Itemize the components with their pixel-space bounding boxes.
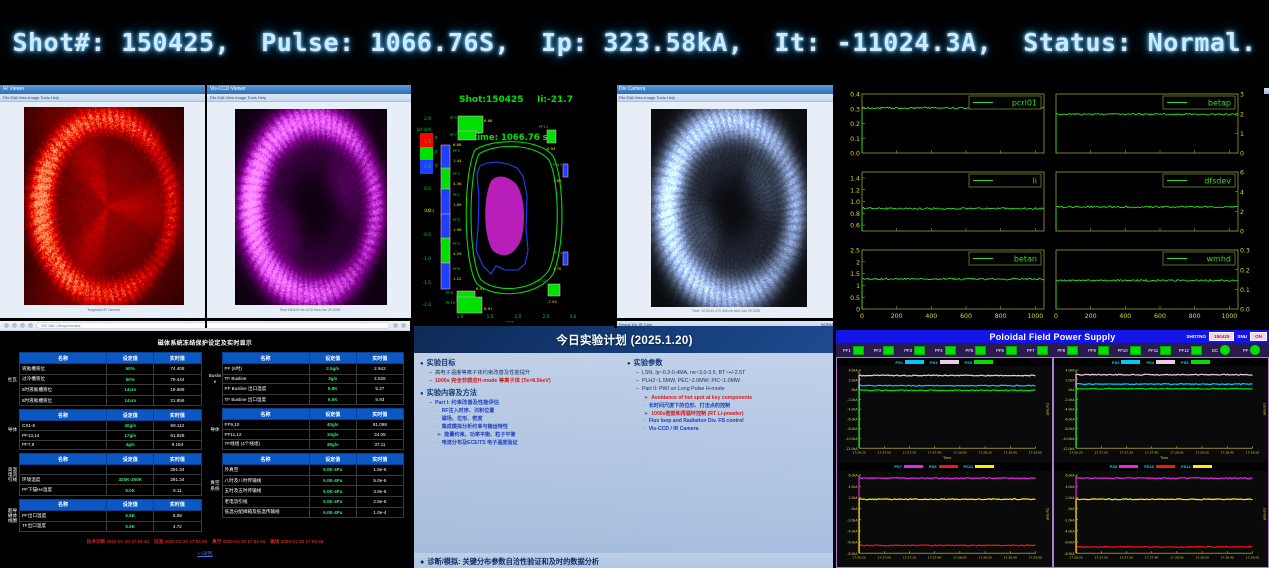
- window-menu-bar[interactable]: File Edit View Image Tools Help: [616, 94, 836, 102]
- slide-sub-text: 能量约束、功率平衡、粒子平衡: [444, 432, 515, 438]
- table-header: 设定值: [309, 353, 356, 364]
- efit-coil-id: PF8: [446, 290, 453, 295]
- pf-power-supply-panel: Poloidal Field Power Supply SHOTNO150425…: [836, 330, 1269, 568]
- pf-indicator-pf9[interactable]: PF9: [1083, 346, 1114, 355]
- slide-sub-text: 集成模拟分析约束与输运特性: [442, 424, 508, 430]
- pfps-status-value: 150425: [1209, 332, 1234, 341]
- arrow-icon: ➢: [437, 432, 441, 438]
- efit-y-tick: -0.5: [423, 232, 432, 238]
- timestamp-label: 真空: [212, 539, 222, 544]
- pf-x-tick: 17:28:00: [1170, 555, 1184, 559]
- table-row: TF出口温度5.5K4.72: [20, 521, 202, 532]
- table-cell-nm: TF线组 (4个线组): [222, 439, 309, 450]
- slide-sub-text: RF注入时序、沉积位置: [442, 408, 495, 414]
- reload-icon[interactable]: [20, 323, 25, 328]
- efit-equilibrium-panel: Shot:150425 Ii:-21.7 time: 1066.76 s Ipf…: [413, 88, 616, 326]
- pf-y-tick: -8.0kA: [1064, 428, 1075, 432]
- slide-bullet-item: –高电子温度等离子体约束改善及性能提升: [429, 370, 622, 377]
- table-header: 实时值: [356, 409, 403, 420]
- slide-sub-text: 长时间尺度下的位形、打击点的控制: [649, 403, 731, 409]
- pf-x-tick: 17:26:20: [852, 451, 866, 455]
- signal-y-tick: 2: [856, 259, 860, 266]
- slide-footer: ● 诊断/模拟: 关键分布参数自洽性验证和及时的数据分析 – 芯部和边界参数分布…: [413, 553, 836, 568]
- pf-x-tick: 17:26:20: [1069, 451, 1083, 455]
- pf-x-tick: 17:27:00: [878, 451, 892, 455]
- pf-legend-swatch: [1156, 360, 1175, 364]
- pf-indicator-pf8[interactable]: PF8: [1052, 346, 1083, 355]
- pf-legend-label: PS12: [1181, 464, 1191, 469]
- table-cell-act: 291.34: [154, 474, 201, 485]
- pf-legend-label: PS10: [1144, 464, 1154, 469]
- pf-legend-label: PS3: [930, 360, 938, 365]
- table-cell-act: 1.8e-5: [356, 465, 403, 476]
- pf-indicator-pf[interactable]: PF: [1236, 345, 1267, 355]
- table-row: 五时及五时传输线5.0E-4Pa3.9e-6: [222, 486, 404, 497]
- pf-x-tick: 17:27:00: [878, 555, 892, 559]
- efit-coil-id: PF2: [453, 217, 460, 222]
- table-cell-set: 5.0E-4Pa: [309, 496, 356, 507]
- camera-caption: Shot 150425 Vis-CCD Mon Jan 20 2025: [207, 308, 413, 312]
- pf-y-tick: .0kA: [1067, 507, 1075, 511]
- magnet-data-table: 名称设定值实时值PF出口温度5.5K5.08TF出口温度5.5K4.72: [19, 499, 202, 532]
- dash-icon: –: [429, 370, 432, 377]
- table-header: 实时值: [154, 353, 201, 364]
- table-row: TF线组 (4个线组)36g/s37.11: [222, 439, 404, 450]
- arrow-icon: ➢: [644, 411, 648, 417]
- table-header: 名称: [222, 409, 309, 420]
- signal-y-tick: 2: [1240, 209, 1244, 216]
- pf-indicator-lamp: [1067, 346, 1078, 355]
- table-header: 名称: [20, 454, 107, 465]
- pf-y-tick: -6.0kA: [847, 540, 858, 544]
- signal-y-tick: 1.0: [850, 199, 860, 206]
- window-title-bar: IR Viewer: [0, 85, 207, 94]
- table-row: 8时液氦槽液位14cm21.856: [20, 395, 202, 406]
- table-cell-nm: PF出口温度: [20, 510, 107, 521]
- signal-y-tick: 0.5: [850, 295, 860, 302]
- table-row: PF13,1417g/s61.928: [20, 430, 202, 440]
- pf-legend-item-ps1: PS1: [895, 360, 924, 365]
- slide-sub-item: ·集成模拟分析约束与输运特性: [437, 424, 622, 430]
- pfps-status-label: SNU: [1237, 334, 1247, 339]
- magnet-table-title: 磁体系统冻结保护设定及实时显示: [0, 331, 410, 352]
- pf-legend-swatch: [904, 465, 923, 469]
- pf-legend-label: PS6: [1181, 360, 1189, 365]
- table-cell-nm: TF Busline 出口温度: [222, 394, 309, 405]
- pf-chart-top-right: 4.0kA2.0kA.0kA-2.0kA-4.0kA-6.0kA-8.0kA-1…: [1054, 366, 1269, 462]
- table-row: 老电流引线5.0E-4Pa2.8e-5: [222, 496, 404, 507]
- dash-icon: –: [636, 370, 639, 377]
- pf-y-tick: 4.0kA: [848, 369, 858, 373]
- pf-indicator-lamp: [1191, 346, 1202, 355]
- table-row: TF Busline 出口温度6.5K5.93: [222, 394, 404, 405]
- pf-legend-label: PS11: [964, 464, 974, 469]
- dot-icon: ·: [644, 418, 646, 424]
- table-cell-act: 5.11: [154, 485, 201, 496]
- pf-y-tick: -6.0kA: [1064, 418, 1075, 422]
- efit-coil-value: 1.98: [453, 227, 462, 232]
- table-cell-act: 34.05: [356, 429, 403, 439]
- pf-legend-item-ps5: PS5: [965, 360, 994, 365]
- signal-plot-dfsdev: 0246dfsdev: [1050, 166, 1264, 244]
- pf-y-tick: -4.0kA: [1064, 529, 1075, 533]
- magnet-data-table: 名称设定值实时值CS1-640g/s58.112PF13,1417g/s61.9…: [19, 409, 202, 450]
- pf-legend-label: PS8: [1110, 464, 1118, 469]
- timestamp-value: 2025-01-20 17:53:46: [223, 539, 266, 544]
- timestamp-value: 2025-01-20 17:53:29: [164, 539, 207, 544]
- pf-legend-item-ps4: PS4: [1146, 360, 1175, 365]
- pf-x-tick: 17:27:20: [903, 451, 917, 455]
- pf-x-tick: 17:28:20: [978, 555, 992, 559]
- slide-section-heading-text: 实验内容及方法: [427, 388, 477, 398]
- pf-legend-item-ps9: PS9: [929, 464, 958, 469]
- signal-y-tick: 0: [1240, 151, 1244, 158]
- magnet-cryo-monitor-browser[interactable]: 192.168.1.8/cryo/monitor 磁体系统冻结保护设定及实时显示…: [0, 320, 410, 568]
- pf-x-tick: 17:26:20: [1069, 555, 1083, 559]
- pf-y-tick: .0kA: [1067, 388, 1075, 392]
- pf-y-label: Current: [1045, 403, 1049, 416]
- slide-bullet-item: –PLH2~1.5MW, PEC~2.0MW; PIC~1.0MW: [636, 378, 829, 385]
- signal-y-tick: 1: [1240, 131, 1244, 138]
- pf-x-tick: 17:28:20: [1195, 451, 1209, 455]
- slide-bullet-text: Part I: 约束改善及性能评估: [435, 400, 499, 407]
- table-cell-set: 10g/s: [309, 429, 356, 439]
- pf-y-tick: -2.0kA: [1064, 398, 1075, 402]
- table-cell-act: 9.184: [154, 440, 201, 450]
- back-link[interactable]: >>返回: [0, 550, 410, 557]
- slide-bullet-text: 高电子温度等离子体约束改善及性能提升: [435, 370, 530, 377]
- monitor-seam: [833, 85, 836, 568]
- pf-legend-swatch: [1191, 360, 1210, 364]
- url-input[interactable]: 192.168.1.8/cryo/monitor: [36, 322, 390, 329]
- pf-y-tick: -4.0kA: [847, 408, 858, 412]
- efit-coil-id: PF4: [453, 241, 460, 246]
- magnet-table-columns: 杜瓦名称设定值实时值液氦槽液位50%74.408过冷槽液位50%79.4445时…: [0, 352, 410, 535]
- table-cell-nm: 五时及五时传输线: [222, 486, 309, 497]
- table-cell-act: 2.942: [356, 364, 403, 375]
- signal-y-tick: 4: [1240, 189, 1244, 196]
- magnet-data-table: 名称设定值实时值PF (6时)2.5g/s2.942TF Busline3g/s…: [222, 352, 405, 405]
- pf-y-tick: 4.0kA: [1065, 485, 1075, 489]
- monitor-seam: [205, 85, 207, 328]
- pf-indicator-pf7[interactable]: PF7: [1022, 346, 1053, 355]
- table-header: 实时值: [356, 353, 403, 364]
- timestamp-value: 2025-01-20 17:53:48: [281, 539, 324, 544]
- pf-x-label: Time: [942, 456, 951, 460]
- pf-indicator-lamp: [975, 346, 986, 355]
- camera-image-visible-magenta: [235, 109, 387, 305]
- slide-sub-item: ➢1000s密度和再循环控制 (RT Li-powder): [644, 411, 829, 417]
- pf-indicator-pf3[interactable]: PF3: [899, 346, 930, 355]
- pf-indicator-label: PF1: [843, 348, 851, 353]
- pf-legend-swatch: [940, 360, 959, 364]
- signal-y-tick: 1.4: [850, 176, 860, 183]
- group-label: 杜瓦: [6, 352, 19, 406]
- magnet-table-group: 超导磁体线圈名称设定值实时值PF出口温度5.5K5.08TF出口温度5.5K4.…: [6, 499, 202, 532]
- table-header: 实时值: [154, 454, 201, 465]
- signal-plot-wmhd: 0.00.10.20.302004006008001000wmhd: [1050, 244, 1264, 322]
- table-cell-nm: 低温分配阀箱及低温传输线: [222, 507, 309, 518]
- shot-status-text: Shot#: 150425, Pulse: 1066.76S, Ip: 323.…: [12, 28, 1256, 57]
- timestamp-value: 2025-01-20 17:53:43: [106, 539, 149, 544]
- table-row: 八时及八时传输线5.0E-4Pa5.0e-6: [222, 475, 404, 486]
- pf-legend-item-ps12: PS12: [1181, 464, 1212, 469]
- pf-y-tick: -2.0kA: [1064, 518, 1075, 522]
- table-cell-act: 61.098: [356, 420, 403, 430]
- table-header: 设定值: [107, 454, 154, 465]
- table-cell-nm: [20, 465, 107, 475]
- pf-indicator-pf5[interactable]: PF5: [961, 346, 992, 355]
- magnet-data-table: 名称设定值实时值外真空5.0E-4Pa1.8e-5八时及八时传输线5.0E-4P…: [222, 453, 405, 518]
- slide-sub-item: ·RF注入时序、沉积位置: [437, 408, 622, 414]
- camera-window-divertor-blue[interactable]: Div Camera File Edit View Image Tools He…: [616, 85, 836, 328]
- pf-y-tick: -2.0kA: [847, 398, 858, 402]
- group-label: 导体: [6, 409, 19, 450]
- slide-section-heading: ●实验内容及方法: [420, 388, 622, 398]
- efit-coil-value: -7.54: [547, 299, 557, 304]
- signal-legend-betan: betan: [1014, 255, 1037, 264]
- table-header: 名称: [20, 353, 107, 364]
- table-cell-act: 4.526: [356, 374, 403, 384]
- slide-right-column: ●实验参数–LSN, Ip~0.3-0.4MA, ne~3.0-3.5, BT~…: [627, 355, 829, 553]
- pf-chart-bottom-right: 6.0kA4.0kA2.0kA.0kA-2.0kA-4.0kA-6.0kA-8.…: [1054, 471, 1269, 567]
- forward-icon[interactable]: [12, 323, 17, 328]
- table-cell-set: 5.8K: [309, 384, 356, 395]
- pf-y-tick: 4.0kA: [848, 485, 858, 489]
- slide-bullet-item: –Part II: PWI on Long Pulse H-mode: [636, 386, 829, 393]
- bookmark-icon[interactable]: [393, 323, 398, 328]
- pf-x-tick: 17:29:00: [1245, 451, 1259, 455]
- pf-legend-swatch: [1156, 465, 1175, 469]
- signal-y-tick: 6: [1240, 170, 1244, 177]
- signal-y-tick: 0.1: [1240, 287, 1250, 294]
- efit-coil-id: PF3: [453, 171, 460, 176]
- table-cell-set: 5.0E-4Pa: [309, 465, 356, 476]
- pf-chart-area: PS1PS3PS5 4.0kA2.0kA.0kA-2.0kA-4.0kA-6.0…: [836, 357, 1269, 568]
- pf-indicator-dc[interactable]: DC: [1206, 345, 1237, 355]
- efit-coil-value: 4.29: [453, 251, 462, 256]
- pf-x-tick: 17:29:00: [1245, 555, 1259, 559]
- slide-sub-text: 磁场、位形、密度: [442, 416, 483, 422]
- pf-y-label: Current: [1045, 508, 1049, 521]
- table-header: 名称: [20, 499, 107, 510]
- back-icon[interactable]: [4, 323, 9, 328]
- slide-footer-heading-text: 诊断/模拟: 关键分布参数自洽性验证和及时的数据分析: [427, 557, 599, 567]
- table-cell-nm: PF13,14: [20, 430, 107, 440]
- group-label: 导体: [209, 408, 222, 450]
- dash-icon: –: [636, 378, 639, 385]
- pf-y-tick: -2.0kA: [847, 518, 858, 522]
- pf-indicator-pf12[interactable]: PF12: [1175, 346, 1206, 355]
- slide-section-heading: ●实验参数: [627, 358, 829, 368]
- efit-y-tick: 1.5: [424, 139, 431, 145]
- pf-indicator-pf2[interactable]: PF2: [869, 346, 900, 355]
- shot-status-banner: Shot#: 150425, Pulse: 1066.76S, Ip: 323.…: [0, 0, 1269, 85]
- signal-y-tick: 0.4: [850, 92, 860, 99]
- pf-legend-swatch: [1119, 465, 1138, 469]
- pf-indicator-label: PF4: [935, 348, 943, 353]
- pf-y-tick: 2.0kA: [848, 379, 858, 383]
- slide-section-heading: ●实验目标: [420, 358, 622, 368]
- pf-y-label: Current: [1262, 403, 1266, 416]
- pf-legend-label: PS9: [929, 464, 937, 469]
- table-cell-act: 5.0e-6: [356, 475, 403, 486]
- efit-coil-value: 1.44: [453, 158, 462, 163]
- table-cell-set: 17g/s: [107, 430, 154, 440]
- table-row: 291.34: [20, 465, 202, 475]
- dot-icon: ·: [437, 424, 439, 430]
- dash-icon: –: [429, 378, 432, 385]
- efit-coil-id: PF6: [453, 266, 460, 271]
- pfps-header: Poloidal Field Power Supply SHOTNO150425…: [836, 330, 1269, 343]
- bullet-icon: ●: [420, 361, 424, 367]
- magnet-table-right-column: Busline名称设定值实时值PF (6时)2.5g/s2.942TF Busl…: [209, 352, 405, 535]
- table-cell-nm: PF7,8: [20, 440, 107, 450]
- slide-bullet-text: PLH2~1.5MW, PEC~2.0MW; PIC~1.0MW: [642, 378, 740, 385]
- pfps-status-value: ON: [1250, 332, 1267, 341]
- pf-legend-swatch: [905, 360, 924, 364]
- group-label: 高温电流引线: [6, 453, 19, 496]
- pf-x-tick: 17:28:00: [953, 451, 967, 455]
- timestamp-label: 技术诊断: [87, 539, 107, 544]
- table-cell-act: 74.408: [154, 364, 201, 375]
- pf-x-tick: 17:26:20: [852, 555, 866, 559]
- dot-icon: ·: [437, 408, 439, 414]
- table-row: CS1-640g/s58.112: [20, 421, 202, 431]
- timestamp-entry: 低温 2025-01-20 17:53:29: [154, 539, 207, 545]
- experiment-plan-slide: 今日实验计划 (2025.1.20) ●实验目标–高电子温度等离子体约束改善及性…: [413, 326, 836, 568]
- pf-indicator-pf11[interactable]: PF11: [1144, 346, 1175, 355]
- pf-indicator-lamp: [1250, 345, 1260, 355]
- efit-coil-value: 4.36: [453, 181, 462, 186]
- table-header: 设定值: [309, 409, 356, 420]
- magnet-data-table: 名称设定值实时值291.34环境温度320K-250K291.34PF下锚He温…: [19, 453, 202, 496]
- pf-indicator-pf1[interactable]: PF1: [838, 346, 869, 355]
- table-row: 环境温度320K-250K291.34: [20, 474, 202, 485]
- slide-sub-text: Flux loop and Radiation Div. FB control: [649, 418, 744, 424]
- pf-legend-swatch: [975, 465, 994, 469]
- efit-coil-value: 1.22: [453, 276, 462, 281]
- pf-indicator-lamp: [1006, 346, 1017, 355]
- camera-window-visible-magenta[interactable]: Vis-CCD Viewer File Edit View Image Tool…: [207, 85, 413, 328]
- pf-indicator-pf6[interactable]: PF6: [991, 346, 1022, 355]
- plasma-signal-plots-panel: Plasma Signals 0.00.10.20.30.4pcrl010123…: [836, 88, 1269, 330]
- table-cell-act: 3.9e-6: [356, 486, 403, 497]
- pf-indicator-pf4[interactable]: PF4: [930, 346, 961, 355]
- signal-y-tick: 0.8: [850, 211, 860, 218]
- table-row: PF7,84g/s9.184: [20, 440, 202, 450]
- window-menu-bar[interactable]: File Edit View Image Tools Help: [0, 94, 207, 102]
- signal-y-tick: 0.0: [1240, 307, 1250, 314]
- pf-indicator-label: PF5: [966, 348, 974, 353]
- efit-coil-id: PF13: [553, 162, 563, 167]
- pf-indicator-label: PF2: [874, 348, 882, 353]
- slide-sub-text: Vis-CCD / IR Camera: [649, 426, 699, 432]
- signal-plot-pcrl01: 0.00.10.20.30.4pcrl01: [836, 88, 1050, 166]
- table-cell-set: 5.5K: [107, 521, 154, 532]
- table-cell-set: 36g/s: [309, 439, 356, 450]
- table-cell-nm: 外真空: [222, 465, 309, 476]
- pf-x-tick: 17:27:20: [1119, 451, 1133, 455]
- table-cell-act: 5.08: [154, 510, 201, 521]
- pf-legend-swatch: [939, 465, 958, 469]
- pf-x-label: Time: [1159, 456, 1168, 460]
- group-label: 真空系统: [209, 453, 222, 518]
- pf-indicator-pf10[interactable]: PF10: [1114, 346, 1145, 355]
- table-cell-nm: CS1-6: [20, 421, 107, 431]
- efit-y-tick: -2.0: [423, 302, 432, 308]
- pf-y-tick: 6.0kA: [1065, 473, 1075, 477]
- pf-indicator-lamp: [853, 346, 864, 355]
- menu-icon[interactable]: [401, 323, 406, 328]
- pf-y-tick: -8.0kA: [847, 428, 858, 432]
- signal-plot-li: 0.60.81.01.21.4li: [836, 166, 1050, 244]
- table-cell-nm: 过冷槽液位: [20, 374, 107, 385]
- slide-sub-text: Avoidance of hot spot at key components: [651, 395, 752, 401]
- signal-y-tick: 0: [1240, 229, 1244, 236]
- home-icon[interactable]: [28, 323, 33, 328]
- signal-y-tick: 0.0: [850, 151, 860, 158]
- camera-caption: Time: 10:33:41 470.408 ms Mon Jan 20 202…: [616, 309, 836, 313]
- pf-legend-top-left: PS1PS3PS5: [837, 358, 1052, 366]
- table-cell-act: 37.11: [356, 439, 403, 450]
- pf-indicator-label: PF7: [1027, 348, 1035, 353]
- timestamp-entry: 真空 2025-01-20 17:53:46: [212, 539, 265, 545]
- pf-x-tick: 17:28:40: [1004, 555, 1018, 559]
- pf-channel-indicators: PF1PF2PF3PF4PF5PF6PF7PF8PF9PF10PF11PF12D…: [836, 343, 1269, 357]
- pf-y-label: Current: [1262, 508, 1266, 521]
- pf-y-tick: 6.0kA: [848, 473, 858, 477]
- efit-coil-id: PF11: [539, 124, 549, 129]
- pf-y-tick: 2.0kA: [1065, 496, 1075, 500]
- camera-window-ir-red[interactable]: IR Viewer File Edit View Image Tools Hel…: [0, 85, 207, 328]
- table-cell-act: 5.93: [356, 394, 403, 405]
- pf-indicator-label: PF9: [1088, 348, 1096, 353]
- pf-x-tick: 17:28:40: [1220, 555, 1234, 559]
- pf-chart-top-left: 4.0kA2.0kA.0kA-2.0kA-4.0kA-6.0kA-8.0kA-1…: [837, 366, 1052, 462]
- efit-coil-id: PF5: [453, 148, 460, 153]
- pf-legend-label: PS5: [965, 360, 973, 365]
- efit-coil-value: 1.89: [453, 202, 462, 207]
- table-cell-act: 21.856: [154, 395, 201, 406]
- pf-y-tick: 2.0kA: [848, 496, 858, 500]
- pf-x-tick: 17:28:40: [1004, 451, 1018, 455]
- table-cell-nm: TF出口温度: [20, 521, 107, 532]
- efit-coil-id: PF7: [450, 132, 457, 137]
- pf-legend-label: PS4: [1146, 360, 1154, 365]
- pf-y-tick: 2.0kA: [1065, 379, 1075, 383]
- slide-bullet-text: 1000s 完全非感应H-mode 等离子体 (Te>8.5keV): [435, 378, 551, 385]
- slide-bullet-text: LSN, Ip~0.3-0.4MA, ne~3.0-3.5, BT~+/-2.5…: [642, 370, 745, 377]
- pf-x-tick: 17:27:40: [1144, 451, 1158, 455]
- table-row: 液氦槽液位50%74.408: [20, 364, 202, 375]
- table-row: 5时液氦槽液位14cm19.689: [20, 385, 202, 396]
- pf-y-tick: .0kA: [850, 507, 858, 511]
- efit-coil-id: PF9: [450, 115, 457, 120]
- camera-caption: Tangential IR Camera: [0, 308, 207, 312]
- table-cell-set: [107, 465, 154, 475]
- table-row: PF (6时)2.5g/s2.942: [222, 364, 404, 375]
- slide-bullet-item: –Part I: 约束改善及性能评估: [429, 400, 622, 407]
- slide-sub-item: ➢Avoidance of hot spot at key components: [644, 395, 829, 401]
- signal-y-tick: 2.5: [850, 248, 860, 255]
- pf-x-tick: 17:27:00: [1094, 555, 1108, 559]
- window-menu-bar[interactable]: File Edit View Image Tools Help: [207, 94, 413, 102]
- dash-icon: –: [636, 386, 639, 393]
- pfps-status-label: SHOTNO: [1186, 334, 1206, 339]
- table-cell-nm: PF (6时): [222, 364, 309, 375]
- table-cell-nm: PF下锚He温度: [20, 485, 107, 496]
